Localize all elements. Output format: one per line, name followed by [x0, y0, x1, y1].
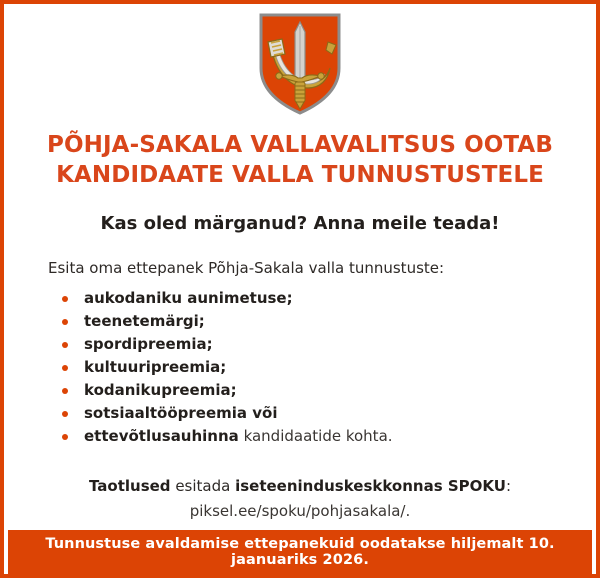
list-item-label: spordipreemia; [84, 335, 213, 353]
announcement-poster: PÕHJA-SAKALA VALLAVALITSUS OOTAB KANDIDA… [0, 0, 600, 578]
list-item-label: ettevõtlusauhinna [84, 427, 239, 445]
page-title: PÕHJA-SAKALA VALLAVALITSUS OOTAB KANDIDA… [4, 130, 596, 190]
list-item-label: sotsiaaltööpreemia või [84, 404, 277, 422]
list-item-suffix: kandidaatide kohta. [239, 427, 393, 445]
deadline-text: Tunnustuse avaldamise ettepanekuid oodat… [8, 536, 592, 568]
spoku-url[interactable]: piksel.ee/spoku/pohjasakala/. [4, 499, 596, 524]
list-item: kultuuripreemia; [60, 356, 596, 379]
pohja-sakala-coat-of-arms-icon [258, 12, 342, 116]
subtitle: Kas oled märganud? Anna meile teada! [4, 212, 596, 236]
apply-colon: : [506, 477, 511, 495]
page-title-line-2: KANDIDAATE VALLA TUNNUSTUSTELE [28, 160, 572, 190]
award-categories-list: aukodaniku aunimetuse; teenetemärgi; spo… [4, 287, 596, 448]
list-item: kodanikupreemia; [60, 379, 596, 402]
list-item: teenetemärgi; [60, 310, 596, 333]
bullet-dot-icon [62, 296, 68, 302]
bullet-dot-icon [62, 388, 68, 394]
bullet-dot-icon [62, 319, 68, 325]
page-title-line-1: PÕHJA-SAKALA VALLAVALITSUS OOTAB [28, 130, 572, 160]
apply-portal-name: iseteeninduskeskkonnas SPOKU [235, 477, 506, 495]
apply-middle-text: esitada [171, 477, 236, 495]
bullet-dot-icon [62, 365, 68, 371]
list-item-label: teenetemärgi; [84, 312, 205, 330]
list-item: ettevõtlusauhinna kandidaatide kohta. [60, 425, 596, 448]
crest-container [4, 4, 596, 116]
bullet-dot-icon [62, 411, 68, 417]
bullet-dot-icon [62, 342, 68, 348]
list-item: spordipreemia; [60, 333, 596, 356]
list-item-label: kultuuripreemia; [84, 358, 226, 376]
bullet-dot-icon [62, 434, 68, 440]
application-instructions: Taotlused esitada iseteeninduskeskkonnas… [4, 474, 596, 524]
list-item-label: kodanikupreemia; [84, 381, 237, 399]
intro-text: Esita oma ettepanek Põhja-Sakala valla t… [4, 258, 596, 278]
list-item: aukodaniku aunimetuse; [60, 287, 596, 310]
deadline-banner: Tunnustuse avaldamise ettepanekuid oodat… [8, 530, 592, 574]
list-item-label: aukodaniku aunimetuse; [84, 289, 293, 307]
apply-bold-lead: Taotlused [89, 477, 171, 495]
list-item: sotsiaaltööpreemia või [60, 402, 596, 425]
